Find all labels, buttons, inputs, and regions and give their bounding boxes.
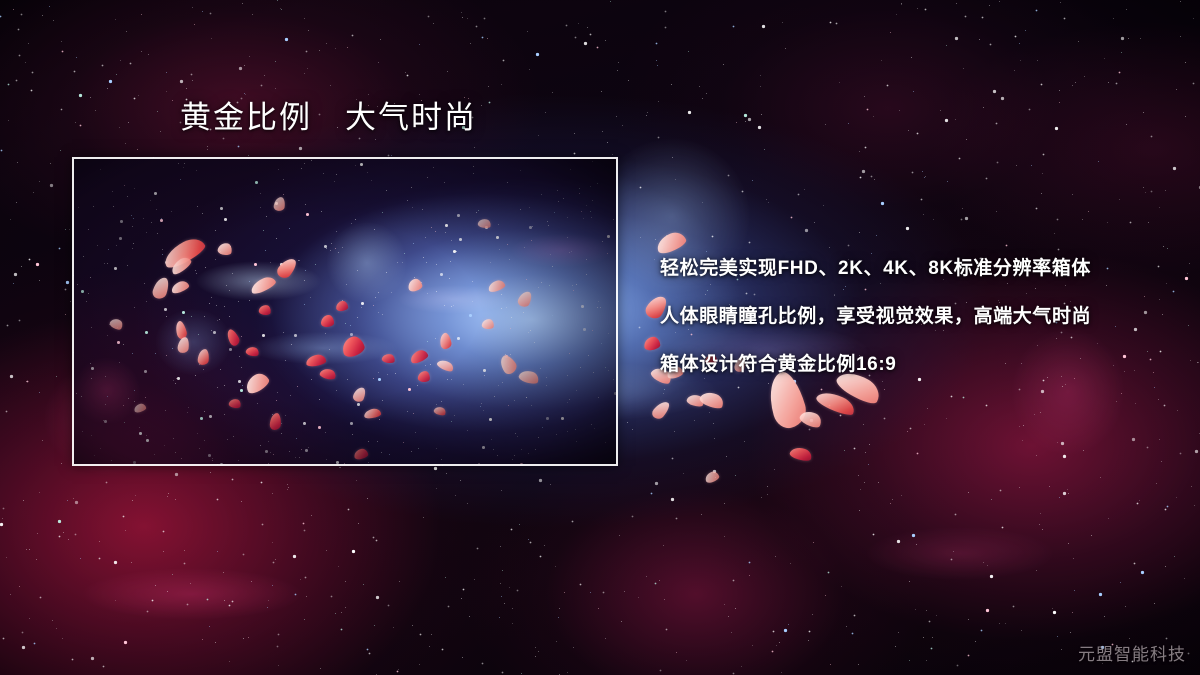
petal-shape [704, 470, 721, 484]
frame-vignette [74, 159, 616, 464]
petal [643, 336, 661, 351]
body-line-2: 人体眼睛瞳孔比例，享受视觉效果，高端大气时尚 [660, 301, 1091, 328]
watermark-label: 元盟智能科技 [1078, 640, 1186, 665]
preview-frame [72, 157, 618, 466]
body-line-3: 箱体设计符合黄金比例16:9 [660, 349, 1091, 376]
petal-shape [698, 389, 725, 411]
petal-shape [654, 229, 688, 256]
petal [650, 398, 672, 421]
body-line-1: 轻松完美实现FHD、2K、4K、8K标准分辨率箱体 [660, 253, 1091, 280]
petal [686, 393, 706, 409]
petal-shape [686, 393, 706, 409]
petal-shape [814, 388, 857, 419]
petal-shape [650, 398, 672, 421]
petal [814, 388, 857, 419]
body-text-block: 轻松完美实现FHD、2K、4K、8K标准分辨率箱体 人体眼睛瞳孔比例，享受视觉效… [660, 253, 1091, 376]
petal-shape [643, 336, 661, 351]
petal [698, 389, 725, 411]
page-title: 黄金比例 大气时尚 [180, 101, 477, 136]
petal [798, 408, 824, 430]
petal-shape [798, 408, 824, 430]
petal [654, 229, 688, 256]
petal [763, 369, 810, 432]
petal [704, 470, 721, 484]
petal-shape [789, 445, 813, 463]
slide-canvas: 黄金比例 大气时尚 轻松完美实现FHD、2K、4K、8K标准分辨率箱体 人体眼睛… [0, 0, 1200, 675]
preview-frame-content [74, 159, 616, 464]
petal-shape [763, 369, 810, 432]
petal [789, 445, 813, 463]
